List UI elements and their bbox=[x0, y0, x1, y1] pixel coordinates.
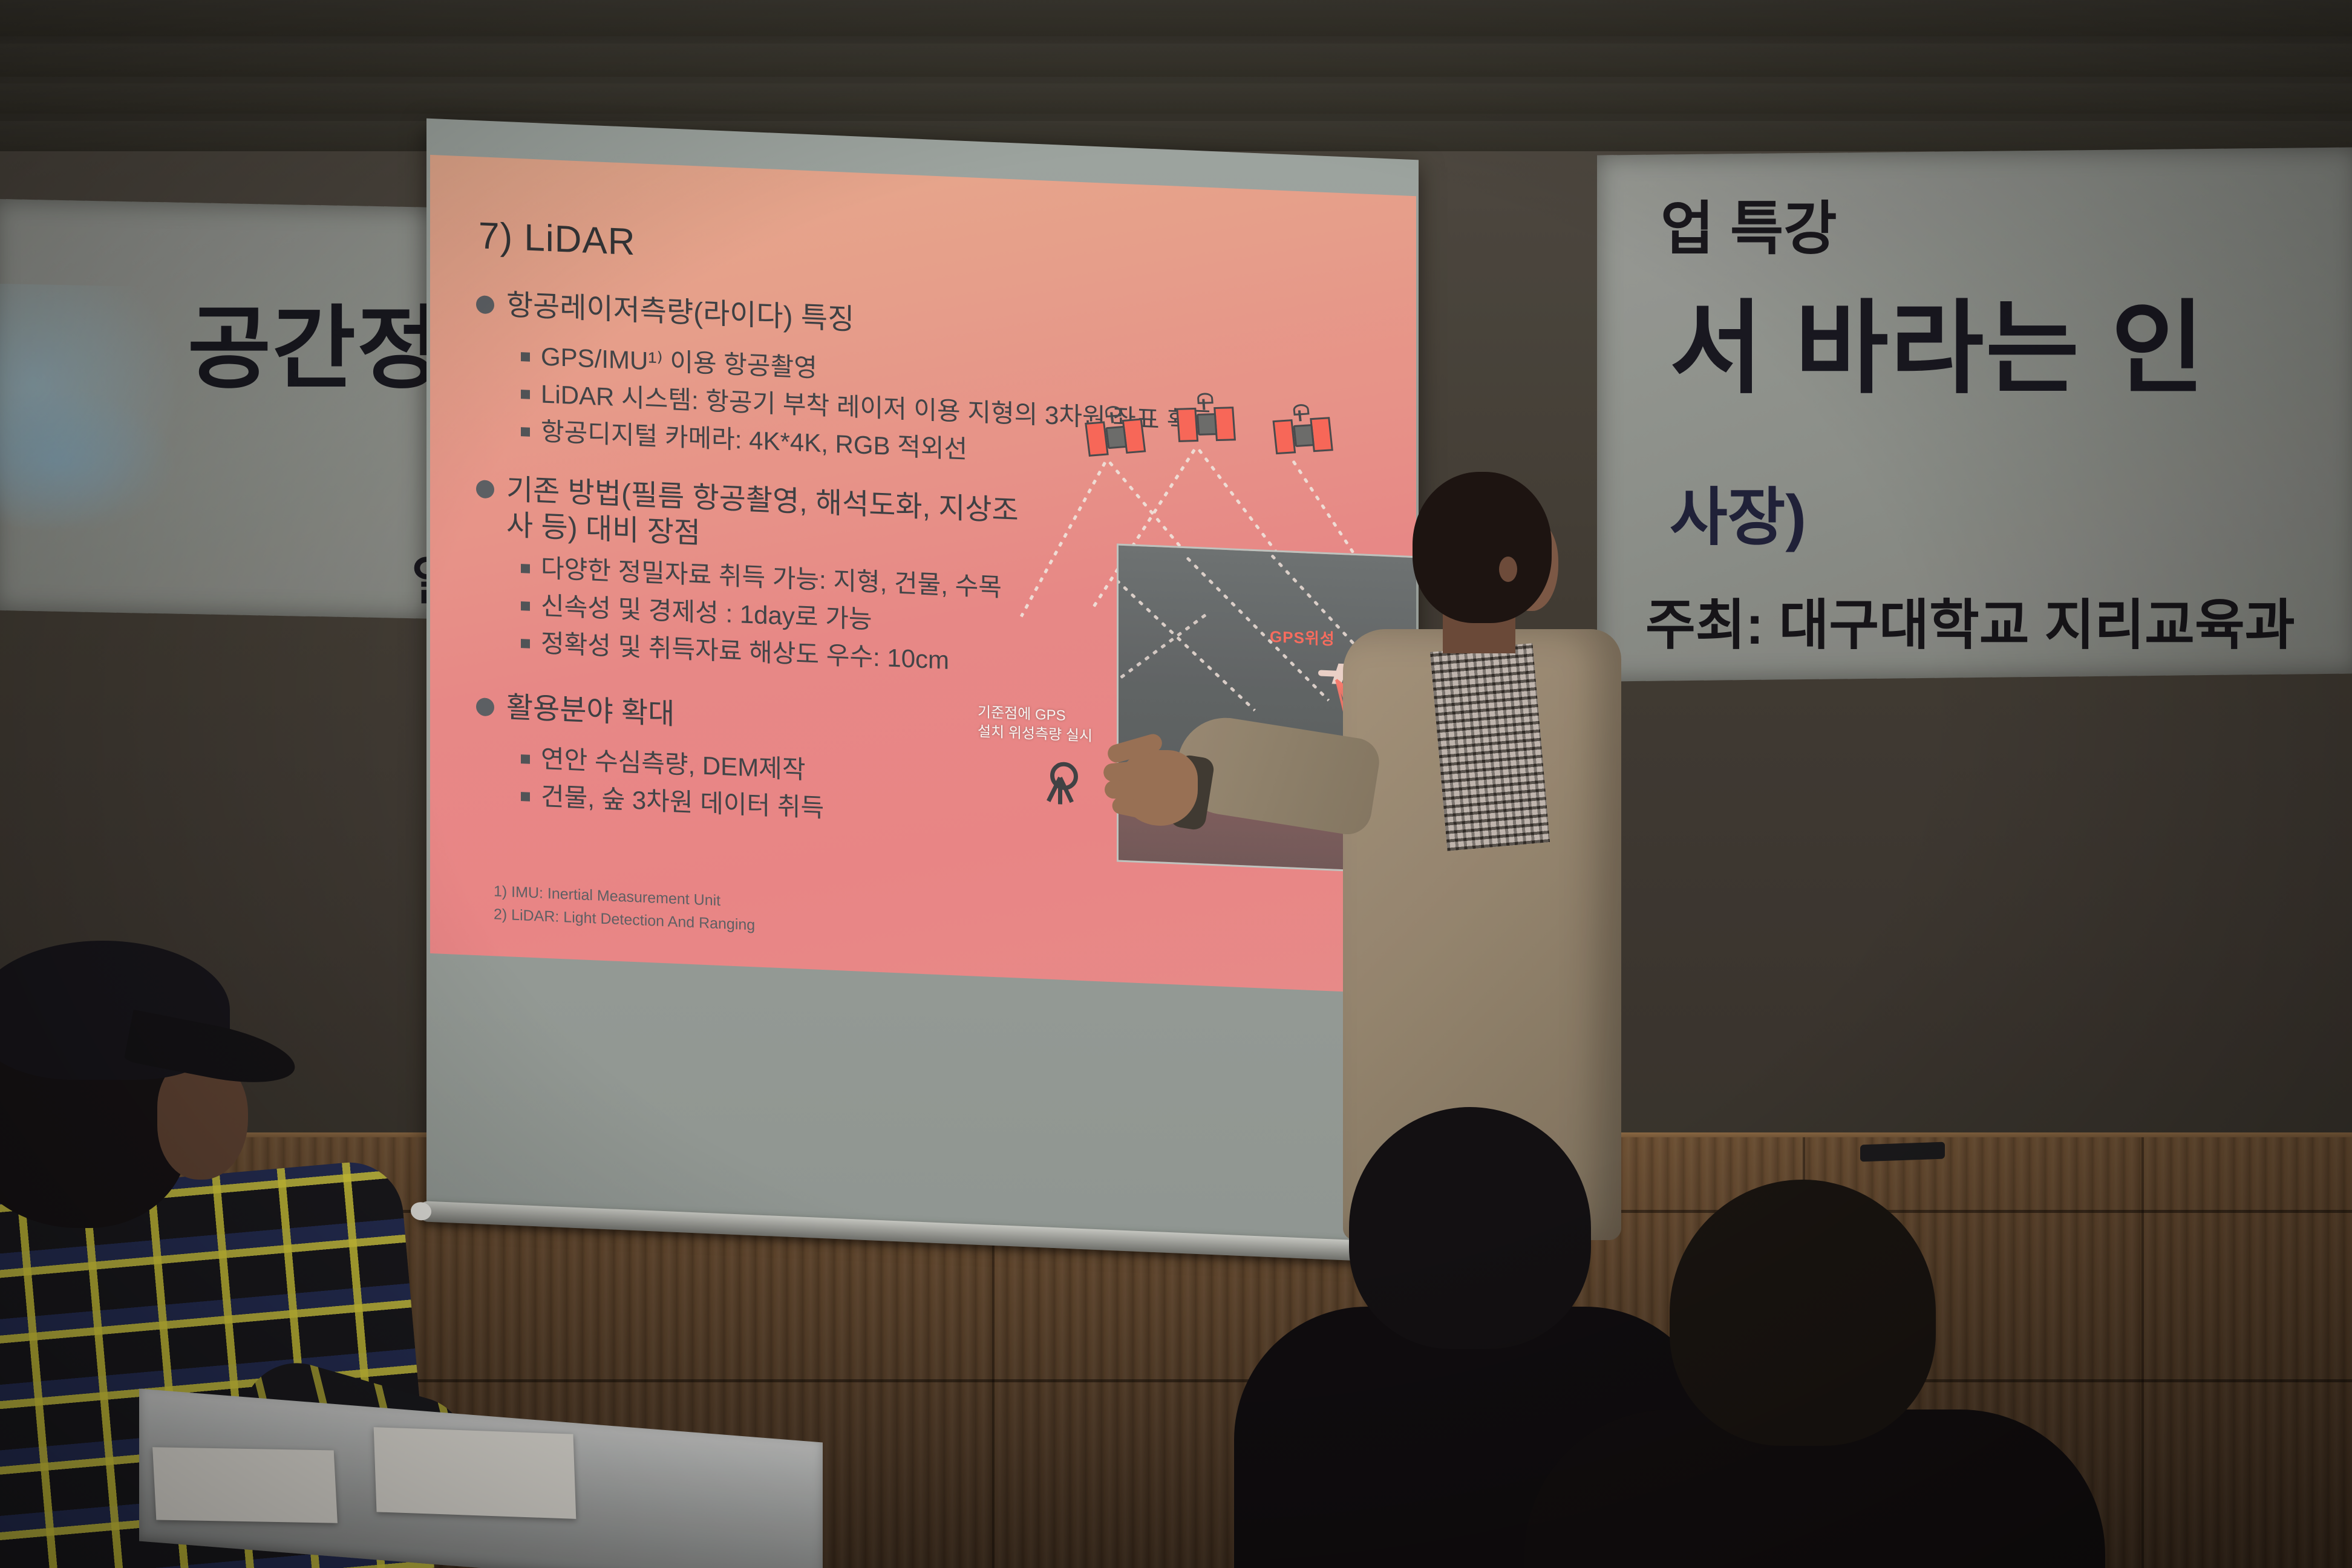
banner-right-organizer: 주최: 대구대학교 지리교육과 bbox=[1645, 581, 2295, 659]
slide-item-text: 신속성 및 경제성 : 1day로 가능 bbox=[541, 590, 872, 636]
slide-item-text: GPS/IMU¹⁾ 이용 항공촬영 bbox=[541, 341, 817, 385]
sub-bullet-icon bbox=[521, 639, 530, 648]
audience-member-right bbox=[1561, 1180, 2045, 1568]
slide-footnotes: 1) IMU: Inertial Measurement Unit 2) LiD… bbox=[494, 880, 755, 936]
sub-bullet-icon bbox=[521, 601, 530, 611]
slide-item-2-3: 정확성 및 취득자료 해상도 우수: 10cm bbox=[521, 627, 949, 676]
gps-satellite-icon bbox=[1176, 404, 1234, 442]
presenter-head bbox=[1413, 472, 1552, 623]
presenter-checked-shirt bbox=[1430, 643, 1550, 851]
handout-paper[interactable] bbox=[152, 1447, 338, 1523]
banner-right-line2: 서 바라는 인 bbox=[1670, 266, 2206, 413]
slide-item-text: 정확성 및 취득자료 해상도 우수: 10cm bbox=[541, 628, 949, 677]
slide-section-heading-2: 기존 방법(필름 항공촬영, 해석도화, 지상조사 등) 대비 장점 bbox=[476, 471, 1045, 566]
banner-wave-decor-2 bbox=[0, 380, 188, 541]
presenter-hand bbox=[1107, 726, 1210, 838]
slide-content: 7) LiDAR 항공레이저측량(라이다) 특징 GPS/IMU¹⁾ 이용 항공… bbox=[430, 155, 1416, 995]
gps-signal-line bbox=[1117, 569, 1256, 711]
section-heading-text: 기존 방법(필름 항공촬영, 해석도화, 지상조사 등) 대비 장점 bbox=[506, 472, 1045, 566]
survey-tripod-icon bbox=[1042, 761, 1077, 802]
sub-bullet-icon bbox=[521, 352, 530, 362]
gps-satellite-icon bbox=[1085, 416, 1145, 457]
remote-control[interactable] bbox=[1860, 1142, 1945, 1162]
sub-bullet-icon bbox=[521, 792, 530, 802]
slide-title: 7) LiDAR bbox=[479, 214, 636, 264]
sub-bullet-icon bbox=[521, 390, 530, 399]
handout-paper[interactable] bbox=[374, 1427, 577, 1519]
banner-right-line3: 사장) bbox=[1670, 466, 1806, 557]
section-heading-text: 활용분야 확대 bbox=[506, 690, 675, 733]
sub-bullet-icon bbox=[521, 754, 530, 764]
slide-section-heading-1: 항공레이저측량(라이다) 특징 bbox=[476, 287, 854, 338]
slide-item-text: 건물, 숲 3차원 데이터 취득 bbox=[541, 781, 824, 825]
presenter-ear bbox=[1499, 557, 1517, 582]
photo-scene: 공간정보 일 업 특강 서 바라는 인 사장) 주최: 대구대학교 지리교육과 … bbox=[0, 0, 2352, 1568]
bullet-dot-icon bbox=[476, 480, 494, 498]
audience-head bbox=[1670, 1180, 1936, 1446]
slide-item-text: 연안 수심측량, DEM제작 bbox=[541, 743, 805, 786]
bullet-dot-icon bbox=[476, 697, 494, 716]
audience-head bbox=[1349, 1107, 1591, 1349]
banner-right-line1: 업 특강 bbox=[1661, 181, 1837, 266]
sub-bullet-icon bbox=[521, 564, 530, 573]
section-heading-text: 항공레이저측량(라이다) 특징 bbox=[506, 288, 854, 338]
slide-item-1-1: GPS/IMU¹⁾ 이용 항공촬영 bbox=[521, 340, 817, 384]
sub-bullet-icon bbox=[521, 427, 530, 437]
bullet-dot-icon bbox=[476, 295, 494, 314]
slide-item-3-2: 건물, 숲 3차원 데이터 취득 bbox=[521, 780, 824, 825]
ground-station-note: 기준점에 GPS설치 위성측량 실시 bbox=[978, 703, 1093, 747]
slide-section-heading-3: 활용분야 확대 bbox=[476, 689, 675, 733]
slide-item-3-1: 연안 수심측량, DEM제작 bbox=[521, 742, 805, 786]
gps-satellite-icon bbox=[1272, 414, 1331, 454]
